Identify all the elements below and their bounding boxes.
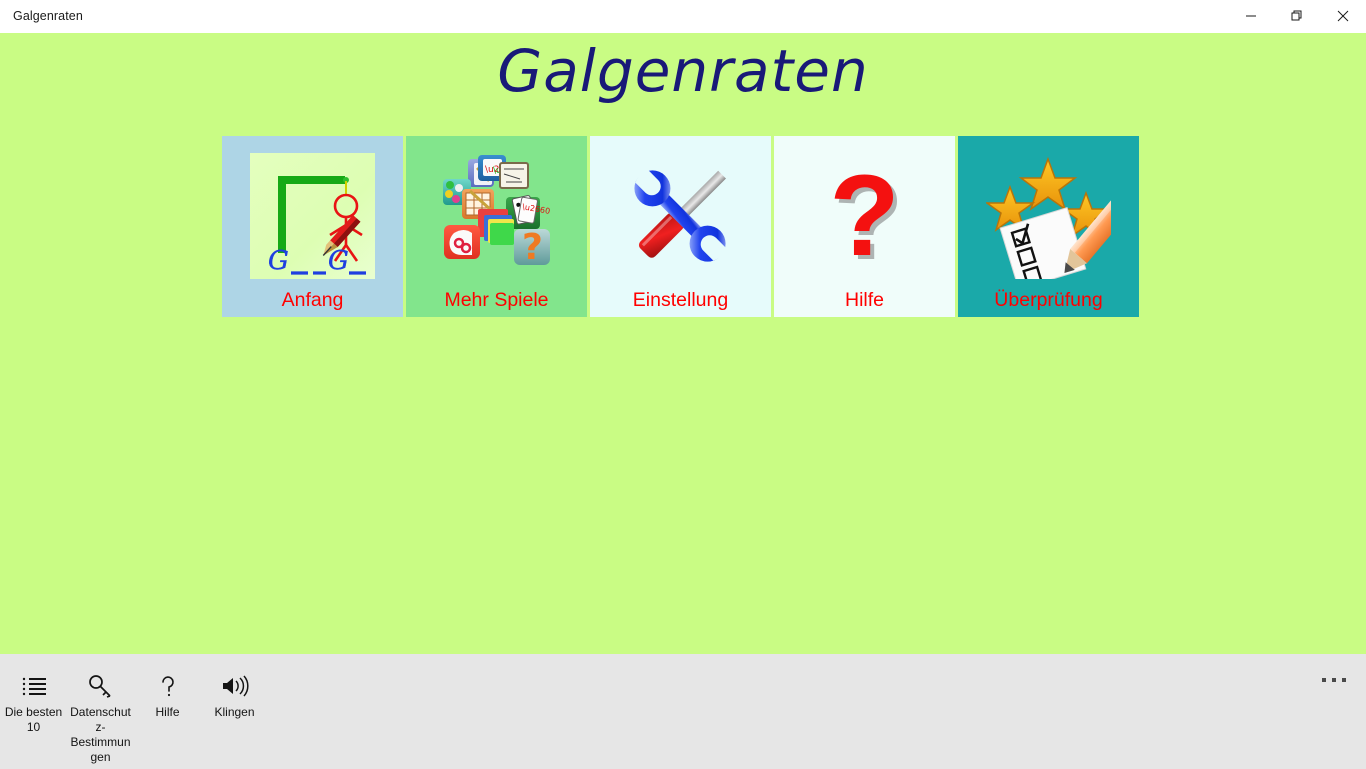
tile-anfang[interactable]: G G Anfang [222, 136, 403, 317]
bottom-toolbar: Die besten 10 Datenschutz-Bestimmungen [0, 654, 1366, 769]
overflow-dot [1322, 678, 1326, 682]
tile-ueberpruefung[interactable]: Überprüfung [958, 136, 1139, 317]
tile-hilfe[interactable]: ? Hilfe [774, 136, 955, 317]
speaker-icon [221, 673, 249, 699]
svg-text:G: G [268, 246, 289, 276]
close-icon [1337, 10, 1349, 22]
list-icon [21, 673, 47, 699]
svg-text:?: ? [522, 227, 543, 268]
tile-grid: G G Anfang [222, 136, 1139, 317]
toolbar-item-datenschutz[interactable]: Datenschutz-Bestimmungen [67, 667, 134, 765]
toolbar-label-klingen: Klingen [202, 705, 268, 720]
overflow-dot [1332, 678, 1336, 682]
toolbar-label-die-besten-10: Die besten 10 [1, 705, 67, 735]
toolbar-label-datenschutz: Datenschutz-Bestimmungen [68, 705, 134, 765]
app-window: Galgenraten Galgenraten [0, 0, 1366, 768]
stars-checklist-pencil-icon [986, 153, 1111, 279]
minimize-icon [1245, 10, 1257, 22]
hangman-gallows-icon: G G [250, 153, 375, 279]
close-button[interactable] [1320, 0, 1366, 32]
wrench-screwdriver-icon [618, 153, 743, 279]
games-collage-icon: \u2665 \u2663 [434, 153, 559, 279]
tile-label-anfang: Anfang [222, 289, 403, 311]
minimize-button[interactable] [1228, 0, 1274, 32]
window-controls [1228, 0, 1366, 32]
title-bar: Galgenraten [0, 0, 1366, 33]
tile-label-einstellung: Einstellung [590, 289, 771, 311]
key-icon [88, 673, 114, 699]
toolbar-overflow-button[interactable] [1312, 667, 1356, 693]
window-title: Galgenraten [13, 9, 83, 23]
svg-text:G: G [328, 246, 349, 276]
page-title: Galgenraten [0, 42, 1366, 100]
overflow-dot [1342, 678, 1346, 682]
toolbar-items: Die besten 10 Datenschutz-Bestimmungen [0, 667, 268, 765]
tile-label-mehr-spiele: Mehr Spiele [406, 289, 587, 311]
toolbar-label-hilfe: Hilfe [135, 705, 201, 720]
question-mark-icon: ? [802, 153, 927, 279]
restore-icon [1291, 10, 1303, 22]
tile-label-hilfe: Hilfe [774, 289, 955, 311]
tile-einstellung[interactable]: Einstellung [590, 136, 771, 317]
question-mark-icon [158, 673, 178, 699]
tile-label-ueberpruefung: Überprüfung [958, 289, 1139, 311]
toolbar-item-klingen[interactable]: Klingen [201, 667, 268, 720]
toolbar-item-hilfe[interactable]: Hilfe [134, 667, 201, 720]
maximize-button[interactable] [1274, 0, 1320, 32]
tile-mehr-spiele[interactable]: \u2665 \u2663 [406, 136, 587, 317]
toolbar-item-die-besten-10[interactable]: Die besten 10 [0, 667, 67, 735]
